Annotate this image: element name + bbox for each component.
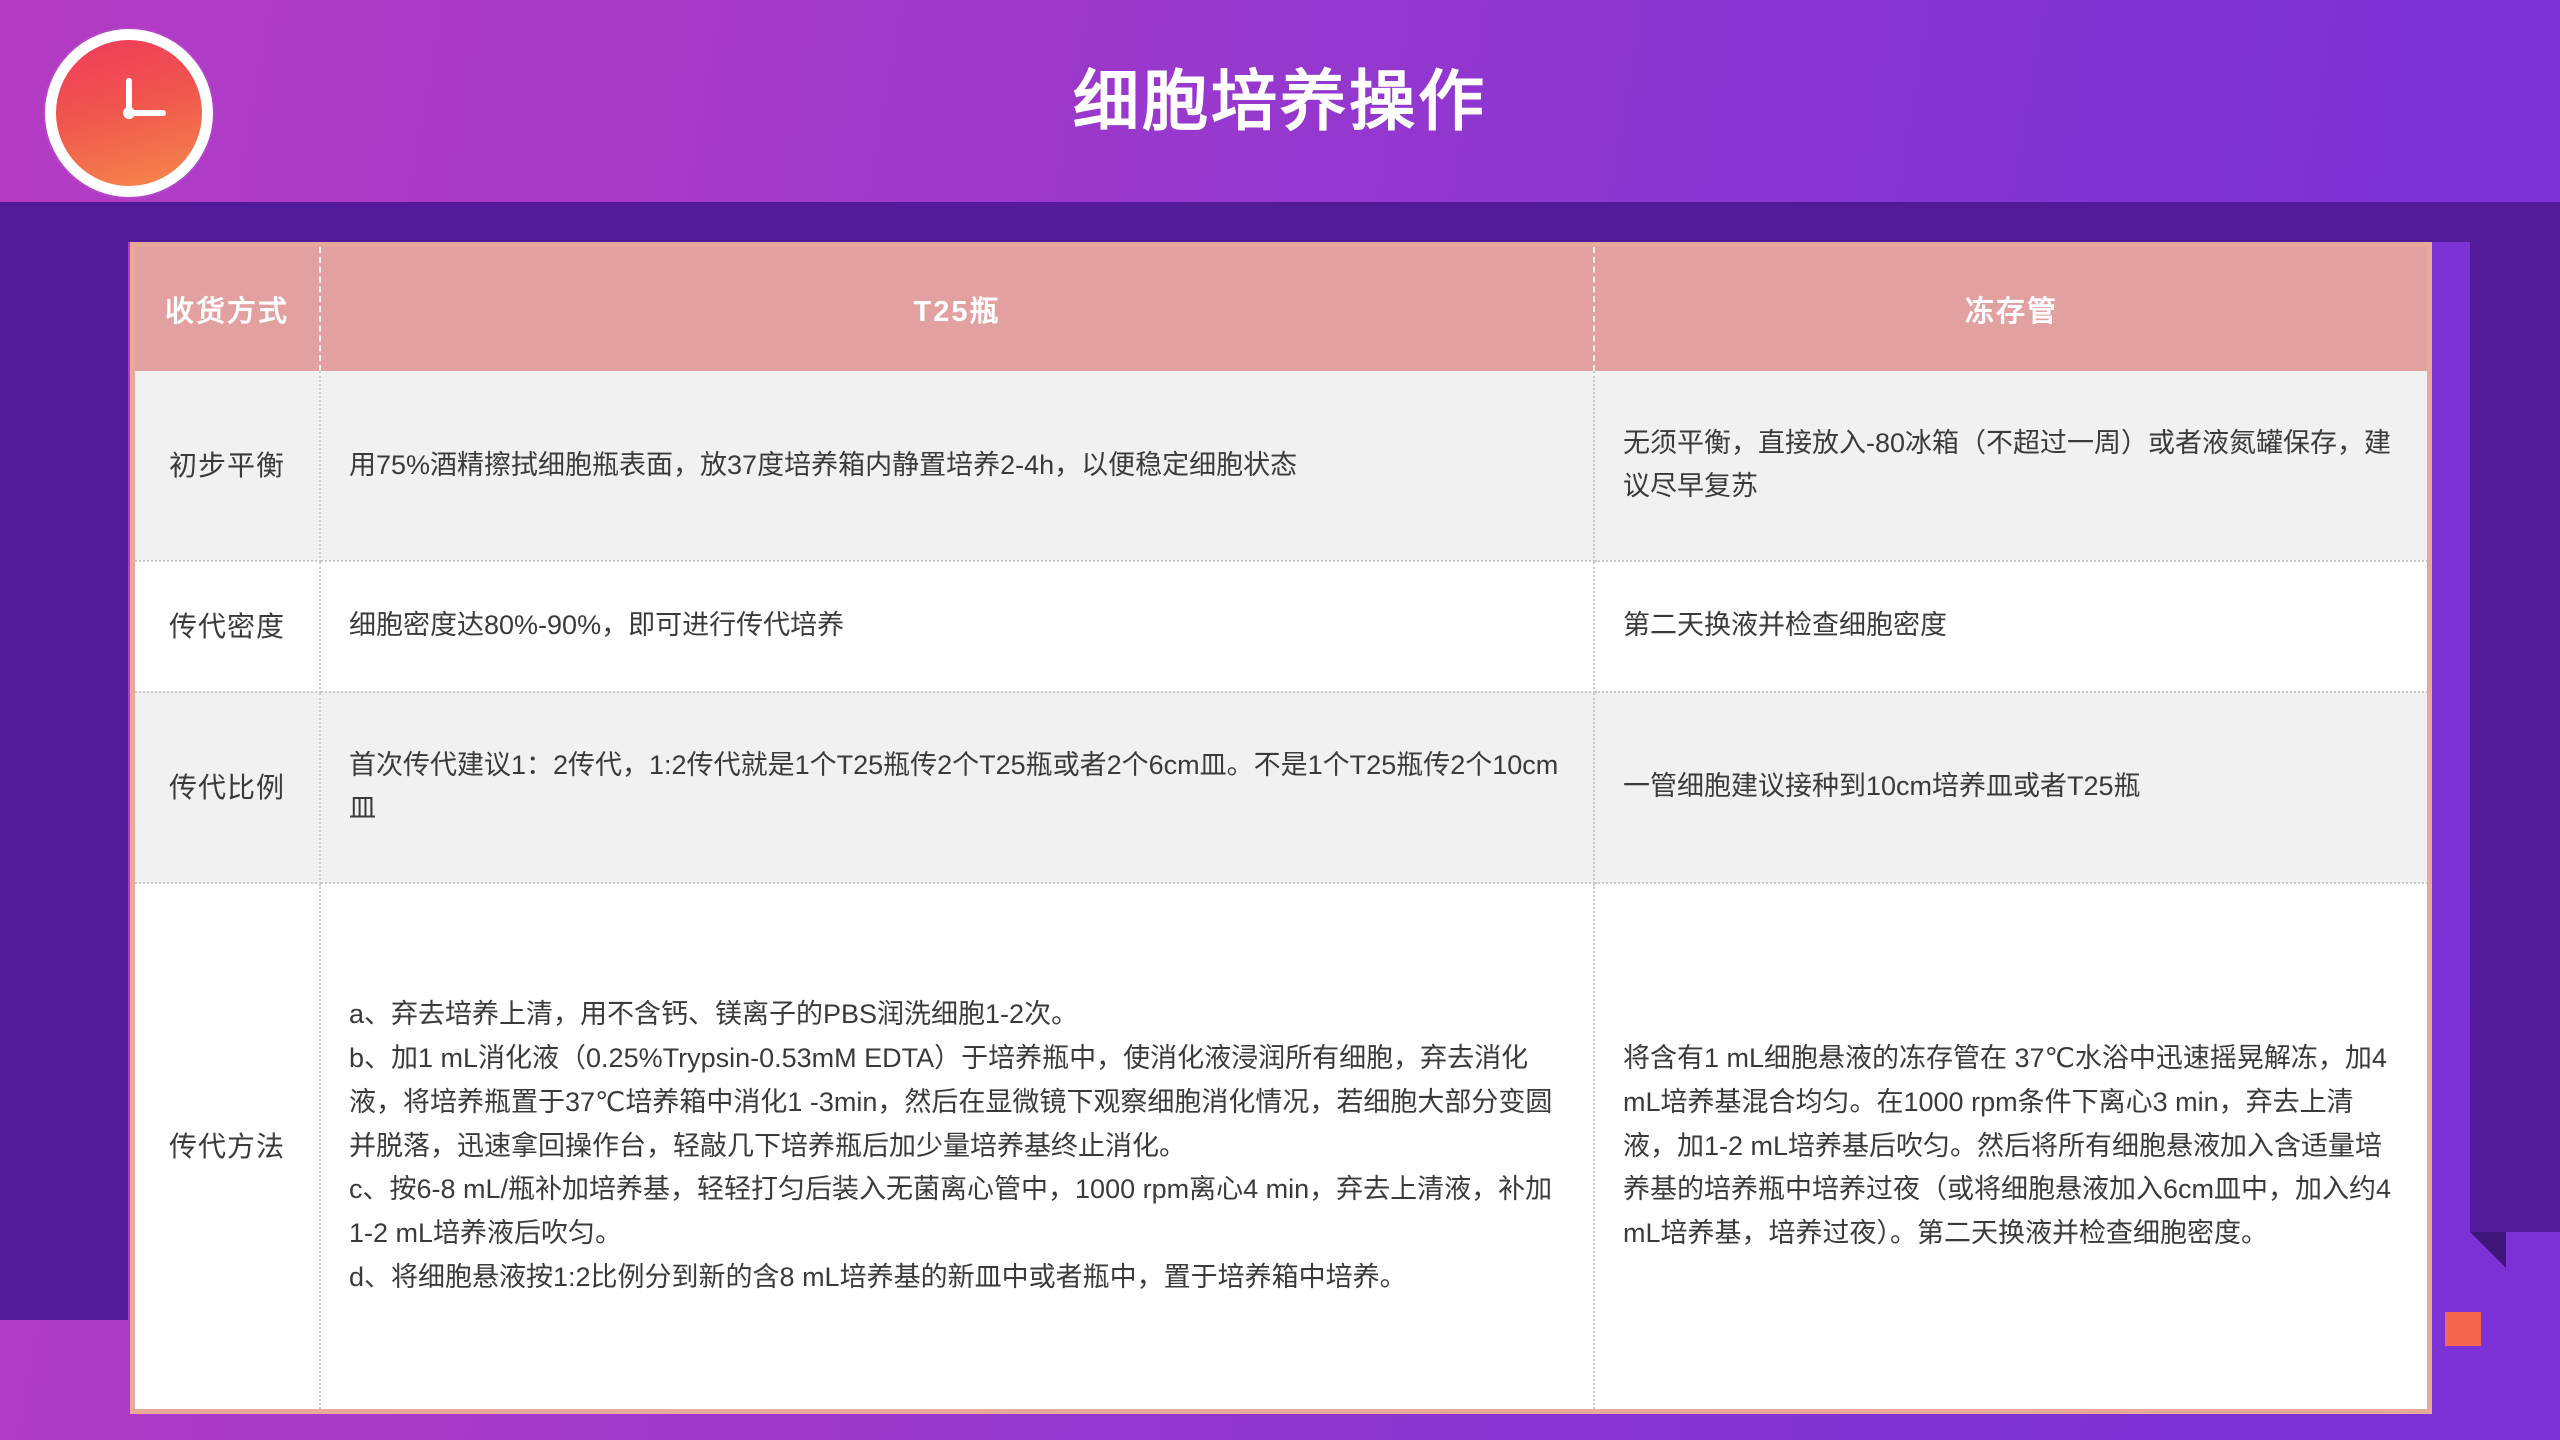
spec-table-card: 收货方式 T25瓶 冻存管 初步平衡 用75%酒精擦拭细胞瓶表面，放37度培养箱…	[130, 242, 2432, 1414]
table-row: 传代方法 a、弃去培养上清，用不含钙、镁离子的PBS润洗细胞1-2次。 b、加1…	[135, 883, 2428, 1409]
column-header-t25: T25瓶	[320, 247, 1594, 371]
column-header-cryovial: 冻存管	[1594, 247, 2428, 371]
culture-procedure-table: 收货方式 T25瓶 冻存管 初步平衡 用75%酒精擦拭细胞瓶表面，放37度培养箱…	[135, 247, 2428, 1409]
decor-accent-square	[2445, 1312, 2481, 1346]
cell-cryovial: 将含有1 mL细胞悬液的冻存管在 37℃水浴中迅速摇晃解冻，加4 mL培养基混合…	[1594, 883, 2428, 1409]
decor-dark-block-right	[2470, 202, 2560, 1232]
decor-dark-block-left	[0, 202, 128, 1320]
table-header-row: 收货方式 T25瓶 冻存管	[135, 247, 2428, 371]
page-title: 细胞培养操作	[0, 0, 2560, 202]
cell-cryovial: 一管细胞建议接种到10cm培养皿或者T25瓶	[1594, 692, 2428, 883]
cell-cryovial: 无须平衡，直接放入-80冰箱（不超过一周）或者液氮罐保存，建议尽早复苏	[1594, 371, 2428, 561]
cell-t25: 用75%酒精擦拭细胞瓶表面，放37度培养箱内静置培养2-4h，以便稳定细胞状态	[320, 371, 1594, 561]
table-row: 初步平衡 用75%酒精擦拭细胞瓶表面，放37度培养箱内静置培养2-4h，以便稳定…	[135, 371, 2428, 561]
table-body: 初步平衡 用75%酒精擦拭细胞瓶表面，放37度培养箱内静置培养2-4h，以便稳定…	[135, 371, 2428, 1409]
decor-dark-strip-top	[0, 202, 2560, 242]
cell-t25: a、弃去培养上清，用不含钙、镁离子的PBS润洗细胞1-2次。 b、加1 mL消化…	[320, 883, 1594, 1409]
decor-fold-triangle	[2470, 1232, 2506, 1268]
row-label: 传代比例	[135, 692, 320, 883]
column-header-method: 收货方式	[135, 247, 320, 371]
row-label: 传代密度	[135, 561, 320, 692]
table-header: 收货方式 T25瓶 冻存管	[135, 247, 2428, 371]
cell-cryovial: 第二天换液并检查细胞密度	[1594, 561, 2428, 692]
slide-canvas: 细胞培养操作 收货方式 T25瓶 冻存管 初步平衡 用75%酒精擦拭细胞瓶表面，…	[0, 0, 2560, 1440]
table-row: 传代密度 细胞密度达80%-90%，即可进行传代培养 第二天换液并检查细胞密度	[135, 561, 2428, 692]
row-label: 传代方法	[135, 883, 320, 1409]
header-banner: 细胞培养操作	[0, 0, 2560, 202]
table-row: 传代比例 首次传代建议1：2传代，1:2传代就是1个T25瓶传2个T25瓶或者2…	[135, 692, 2428, 883]
cell-t25: 首次传代建议1：2传代，1:2传代就是1个T25瓶传2个T25瓶或者2个6cm皿…	[320, 692, 1594, 883]
row-label: 初步平衡	[135, 371, 320, 561]
cell-t25: 细胞密度达80%-90%，即可进行传代培养	[320, 561, 1594, 692]
